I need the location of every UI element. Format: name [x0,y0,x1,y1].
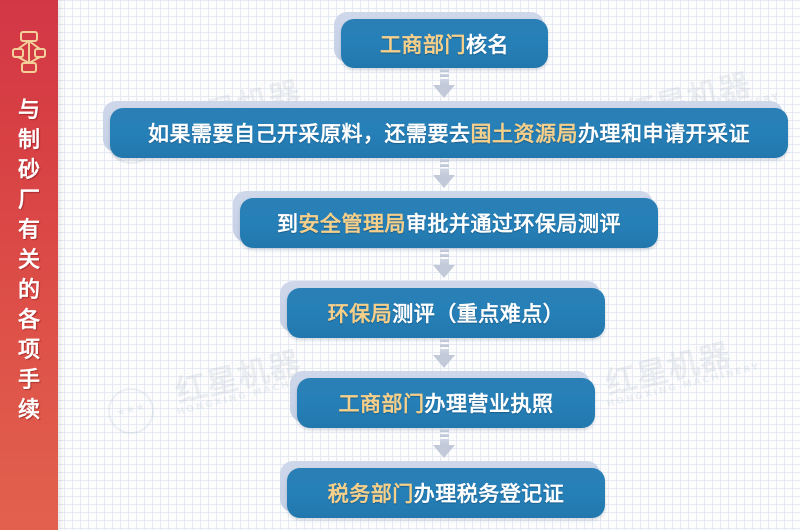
banner-char: 关 [18,246,40,276]
connector-arrow-4 [432,339,456,368]
banner-char: 厂 [18,186,40,216]
step-environmental-assessment[interactable]: 环保局测评（重点难点） [287,288,605,338]
step-rest: 审批并通过环保局测评 [406,212,621,236]
banner-char: 有 [18,216,40,246]
step-label: 如果需要自己开采原料，还需要去国土资源局办理和申请开采证 [148,118,750,148]
step-label: 环保局测评（重点难点） [328,298,565,328]
step-highlight: 国土资源局 [471,122,579,146]
step-rest: 办理税务登记证 [414,482,565,506]
banner-char: 各 [18,306,40,336]
banner-char: 项 [18,336,40,366]
step-label: 工商部门办理营业执照 [339,388,554,418]
banner-char: 的 [18,276,40,306]
step-highlight: 税务部门 [328,482,414,506]
banner-char: 续 [18,396,40,426]
connector-arrow-5 [432,429,456,458]
side-banner: 与 制 砂 厂 有 关 的 各 项 手 续 [0,0,58,530]
step-business-license[interactable]: 工商部门办理营业执照 [297,378,595,428]
step-prefix: 如果需要自己开采原料，还需要去 [148,122,471,146]
step-rest: 办理营业执照 [425,392,554,416]
step-highlight: 安全管理局 [299,212,407,236]
step-safety-bureau-approval[interactable]: 到安全管理局审批并通过环保局测评 [240,198,658,248]
flowchart: 工商部门核名 如果需要自己开采原料，还需要去国土资源局办理和申请开采证 到安全管… [58,0,800,530]
step-industry-commerce-name-approval[interactable]: 工商部门核名 [341,19,548,68]
connector-arrow-3 [432,249,456,278]
banner-char: 砂 [18,156,40,186]
step-rest: 核名 [466,33,509,57]
step-label: 税务部门办理税务登记证 [328,478,565,508]
step-highlight: 工商部门 [380,33,466,57]
banner-char: 制 [18,126,40,156]
connector-arrow-2 [432,159,456,188]
infographic-canvas: 红星机器 HONGXING MACHINERY ★★★ 红星机器 HONGXIN… [0,0,800,530]
step-rest: 测评（重点难点） [392,302,564,326]
step-highlight: 环保局 [328,302,393,326]
banner-char: 与 [18,96,40,126]
side-banner-title: 与 制 砂 厂 有 关 的 各 项 手 续 [0,96,58,516]
step-land-resources-mining-permit[interactable]: 如果需要自己开采原料，还需要去国土资源局办理和申请开采证 [110,108,788,158]
step-prefix: 到 [277,212,299,236]
step-tax-registration[interactable]: 税务部门办理税务登记证 [287,468,605,518]
step-highlight: 工商部门 [339,392,425,416]
step-rest: 办理和申请开采证 [578,122,750,146]
connector-arrow-1 [432,69,456,98]
banner-char: 手 [18,366,40,396]
step-label: 到安全管理局审批并通过环保局测评 [277,208,621,238]
step-label: 工商部门核名 [380,29,509,59]
org-chart-icon [12,30,46,74]
